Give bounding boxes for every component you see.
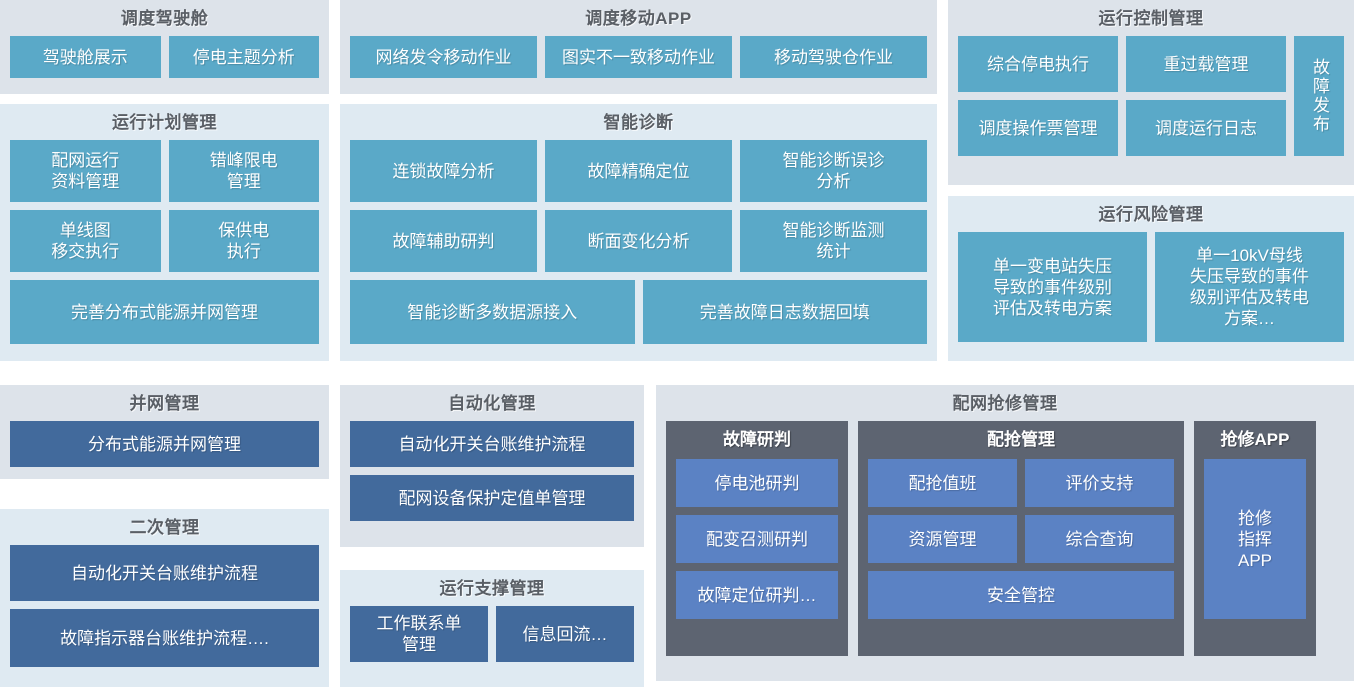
tile-improve-fault-log-data-backfill[interactable]: 完善故障日志数据回填	[643, 280, 928, 344]
tile-fault-assisted-judgment[interactable]: 故障辅助研判	[350, 210, 537, 272]
tile-single-10kv-busbar-voltage-loss-event-assessment[interactable]: 单一10kV母线 失压导致的事件 级别评估及转电 方案…	[1155, 232, 1344, 342]
subgroup-title-fault-judgment: 故障研判	[676, 427, 838, 453]
panel-automation-management: 自动化管理 自动化开关台账维护流程 配网设备保护定值单管理	[340, 385, 644, 547]
tile-comprehensive-query[interactable]: 综合查询	[1025, 515, 1174, 563]
tile-row: 配变召测研判	[676, 515, 838, 563]
tile-section-change-analysis[interactable]: 断面变化分析	[545, 210, 732, 272]
tile-row: 驾驶舱展示 停电主题分析	[10, 36, 319, 78]
tile-overload-management[interactable]: 重过载管理	[1126, 36, 1286, 92]
architecture-diagram: 调度驾驶舱 驾驶舱展示 停电主题分析 调度移动APP 网络发令移动作业 图实不一…	[0, 0, 1354, 687]
tile-safety-control[interactable]: 安全管控	[868, 571, 1174, 619]
tile-outage-pool-judgment[interactable]: 停电池研判	[676, 459, 838, 507]
tile-cascading-fault-analysis[interactable]: 连锁故障分析	[350, 140, 537, 202]
tile-transformer-polling-judgment[interactable]: 配变召测研判	[676, 515, 838, 563]
tile-row: 资源管理 综合查询	[868, 515, 1174, 563]
tile-distributed-energy-grid-connection-management[interactable]: 分布式能源并网管理	[10, 421, 319, 467]
tile-cockpit-display[interactable]: 驾驶舱展示	[10, 36, 161, 78]
tile-intelligent-diagnosis-multi-datasource-access[interactable]: 智能诊断多数据源接入	[350, 280, 635, 344]
tile-comprehensive-outage-execution[interactable]: 综合停电执行	[958, 36, 1118, 92]
panel-title-dispatch-cockpit: 调度驾驶舱	[10, 6, 319, 32]
tile-intelligent-diagnosis-monitoring-statistics[interactable]: 智能诊断监测 统计	[740, 210, 927, 272]
panel-operation-plan: 运行计划管理 配网运行 资料管理 错峰限电 管理 单线图 移交执行 保供电 执行…	[0, 104, 329, 361]
tile-row: 综合停电执行 重过载管理	[958, 36, 1286, 92]
panel-title-distribution-repair: 配网抢修管理	[666, 391, 1344, 417]
tile-mobile-cockpit-work[interactable]: 移动驾驶仓作业	[740, 36, 927, 78]
tile-row: 自动化开关台账维护流程	[10, 545, 319, 601]
tile-row: 故障指示器台账维护流程….	[10, 609, 319, 667]
tile-information-backflow[interactable]: 信息回流…	[496, 606, 634, 662]
panel-title-intelligent-diagnosis: 智能诊断	[350, 110, 927, 136]
panel-operation-control: 运行控制管理 综合停电执行 重过载管理 调度操作票管理 调度运行日志 故障发布	[948, 0, 1354, 185]
tile-row: 分布式能源并网管理	[10, 421, 319, 467]
tile-network-dispatch-mobile-work[interactable]: 网络发令移动作业	[350, 36, 537, 78]
panel-title-operation-plan: 运行计划管理	[10, 110, 319, 136]
tile-distribution-operation-data-management[interactable]: 配网运行 资料管理	[10, 140, 161, 202]
tile-repair-duty[interactable]: 配抢值班	[868, 459, 1017, 507]
tile-row: 网络发令移动作业 图实不一致移动作业 移动驾驶仓作业	[350, 36, 927, 78]
tile-row: 停电池研判	[676, 459, 838, 507]
panel-intelligent-diagnosis: 智能诊断 连锁故障分析 故障精确定位 智能诊断误诊 分析 故障辅助研判 断面变化…	[340, 104, 937, 361]
panel-operation-risk: 运行风险管理 单一变电站失压 导致的事件级别 评估及转电方案 单一10kV母线 …	[948, 196, 1354, 361]
panel-title-secondary-management: 二次管理	[10, 515, 319, 541]
tile-power-supply-guarantee-execution[interactable]: 保供电 执行	[169, 210, 320, 272]
tile-row: 配抢值班 评价支持	[868, 459, 1174, 507]
tile-map-mismatch-mobile-work[interactable]: 图实不一致移动作业	[545, 36, 732, 78]
tile-peak-shifting-power-limit-management[interactable]: 错峰限电 管理	[169, 140, 320, 202]
subgroup-repair-app: 抢修APP 抢修 指挥 APP	[1194, 421, 1316, 656]
tile-outage-theme-analysis[interactable]: 停电主题分析	[169, 36, 320, 78]
tile-row: 抢修 指挥 APP	[1204, 459, 1306, 644]
tile-work-contact-form-management[interactable]: 工作联系单 管理	[350, 606, 488, 662]
tile-row: 连锁故障分析 故障精确定位 智能诊断误诊 分析	[350, 140, 927, 202]
tile-fault-publish[interactable]: 故障发布	[1294, 36, 1344, 156]
tile-row: 调度操作票管理 调度运行日志	[958, 100, 1286, 156]
tile-distribution-equipment-protection-setting-management[interactable]: 配网设备保护定值单管理	[350, 475, 634, 521]
tile-row: 工作联系单 管理 信息回流…	[350, 606, 634, 662]
tile-row: 完善分布式能源并网管理	[10, 280, 319, 344]
tile-precise-fault-location[interactable]: 故障精确定位	[545, 140, 732, 202]
tile-row: 智能诊断多数据源接入 完善故障日志数据回填	[350, 280, 927, 344]
tile-intelligent-diagnosis-misdiagnosis-analysis[interactable]: 智能诊断误诊 分析	[740, 140, 927, 202]
panel-title-operation-support: 运行支撑管理	[350, 576, 634, 602]
panel-distribution-repair: 配网抢修管理 故障研判 停电池研判 配变召测研判 故障定位研判… 配抢管理	[656, 385, 1354, 681]
tile-fault-indicator-ledger-maintenance-process[interactable]: 故障指示器台账维护流程….	[10, 609, 319, 667]
tile-row: 故障辅助研判 断面变化分析 智能诊断监测 统计	[350, 210, 927, 272]
panel-title-automation-management: 自动化管理	[350, 391, 634, 417]
subgroup-title-repair-management: 配抢管理	[868, 427, 1174, 453]
panel-operation-support: 运行支撑管理 工作联系单 管理 信息回流…	[340, 570, 644, 687]
tile-evaluation-support[interactable]: 评价支持	[1025, 459, 1174, 507]
tile-single-line-diagram-handover-execution[interactable]: 单线图 移交执行	[10, 210, 161, 272]
tile-automation-switch-ledger-maintenance-process[interactable]: 自动化开关台账维护流程	[10, 545, 319, 601]
tile-dispatch-operation-ticket-management[interactable]: 调度操作票管理	[958, 100, 1118, 156]
panel-secondary-management: 二次管理 自动化开关台账维护流程 故障指示器台账维护流程….	[0, 509, 329, 687]
panel-title-grid-connection: 并网管理	[10, 391, 319, 417]
tile-single-substation-voltage-loss-event-assessment[interactable]: 单一变电站失压 导致的事件级别 评估及转电方案	[958, 232, 1147, 342]
tile-row: 配网设备保护定值单管理	[350, 475, 634, 521]
tile-row: 自动化开关台账维护流程	[350, 421, 634, 467]
subgroup-title-repair-app: 抢修APP	[1204, 427, 1306, 453]
tile-automation-switch-ledger-process[interactable]: 自动化开关台账维护流程	[350, 421, 634, 467]
tile-row: 单一变电站失压 导致的事件级别 评估及转电方案 单一10kV母线 失压导致的事件…	[958, 232, 1344, 342]
panel-grid-connection: 并网管理 分布式能源并网管理	[0, 385, 329, 479]
tile-repair-command-app[interactable]: 抢修 指挥 APP	[1204, 459, 1306, 619]
subgroup-fault-judgment: 故障研判 停电池研判 配变召测研判 故障定位研判…	[666, 421, 848, 656]
tile-fault-location-judgment[interactable]: 故障定位研判…	[676, 571, 838, 619]
tile-row: 故障定位研判…	[676, 571, 838, 619]
panel-dispatch-cockpit: 调度驾驶舱 驾驶舱展示 停电主题分析	[0, 0, 329, 94]
panel-title-operation-risk: 运行风险管理	[958, 202, 1344, 228]
tile-resource-management[interactable]: 资源管理	[868, 515, 1017, 563]
panel-dispatch-mobile-app: 调度移动APP 网络发令移动作业 图实不一致移动作业 移动驾驶仓作业	[340, 0, 937, 94]
tile-row: 配网运行 资料管理 错峰限电 管理	[10, 140, 319, 202]
tile-row: 安全管控	[868, 571, 1174, 619]
panel-title-operation-control: 运行控制管理	[958, 6, 1344, 32]
tile-dispatch-operation-log[interactable]: 调度运行日志	[1126, 100, 1286, 156]
tile-row: 单线图 移交执行 保供电 执行	[10, 210, 319, 272]
tile-improve-distributed-energy-grid-connection-management[interactable]: 完善分布式能源并网管理	[10, 280, 319, 344]
panel-title-dispatch-mobile-app: 调度移动APP	[350, 6, 927, 32]
subgroup-repair-management: 配抢管理 配抢值班 评价支持 资源管理 综合查询 安全管控	[858, 421, 1184, 656]
